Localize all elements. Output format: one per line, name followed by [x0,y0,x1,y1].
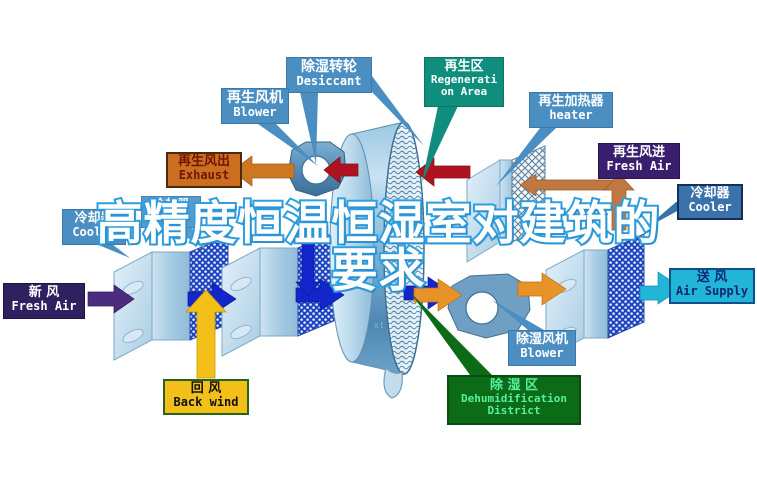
label-regeneration-area-en2: on Area [425,86,503,98]
label-dehumidification-district-cn: 除 湿 区 [449,379,579,393]
label-dehumidify-blower[interactable]: 除湿风机 Blower [508,330,576,366]
label-regeneration-area[interactable]: 再生区 Regenerati on Area [424,57,504,107]
label-exhaust[interactable]: 再生风出 Exhaust [166,152,242,188]
label-air-supply[interactable]: 送 风 Air Supply [669,268,755,304]
label-desiccant-wheel[interactable]: 除湿转轮 Desiccant [286,57,372,93]
label-air-supply-en: Air Supply [671,285,753,298]
label-fresh-air-in[interactable]: 新 风 Fresh Air [3,283,85,319]
label-regeneration-blower[interactable]: 再生风机 Blower [221,88,289,124]
label-cooler-right-en: Cooler [679,201,741,214]
label-regeneration-heater[interactable]: 再生加热器 heater [529,92,613,128]
label-regeneration-blower-en: Blower [222,106,288,119]
label-cooler-right-cn: 冷却器 [679,187,741,201]
drain-pan [384,368,402,398]
label-back-wind[interactable]: 回 风 Back wind [163,379,249,415]
label-cooler-left-front[interactable]: 冷却器 Cooler [62,209,126,245]
label-dehumidification-district-en2: District [449,405,579,417]
label-cooler-left-back[interactable]: 冷却器 Cooler [141,196,201,228]
label-dehumidification-district[interactable]: 除 湿 区 Dehumidification District [447,375,581,425]
arrow-regen-hot-b [416,158,470,186]
label-desiccant-wheel-cn: 除湿转轮 [287,60,371,75]
label-regeneration-air-in-en: Fresh Air [599,160,679,173]
label-back-wind-en: Back wind [165,396,247,409]
label-regeneration-area-cn: 再生区 [425,60,503,74]
label-dehumidify-blower-en: Blower [509,347,575,360]
label-exhaust-en: Exhaust [168,169,240,182]
label-cooler-left-back-en: Cooler [142,211,200,222]
label-fresh-air-in-en: Fresh Air [4,300,84,313]
label-air-supply-cn: 送 风 [671,271,753,285]
label-desiccant-wheel-en: Desiccant [287,75,371,88]
label-cooler-left-front-en: Cooler [63,226,125,239]
regen-heater-unit [467,146,545,262]
label-dehumidify-blower-cn: 除湿风机 [509,333,575,347]
label-regeneration-heater-en: heater [530,109,612,122]
label-exhaust-cn: 再生风出 [168,155,240,169]
label-cooler-left-back-cn: 冷却器 [142,198,200,211]
label-regeneration-air-in-cn: 再生风进 [599,146,679,160]
dehumidifier-system-diagram: 除湿转轮 Desiccant 再生风机 Blower 再生区 Regenerat… [0,0,757,488]
label-fresh-air-in-cn: 新 风 [4,286,84,300]
rotor-watermark: xt [374,320,385,330]
label-regeneration-air-in[interactable]: 再生风进 Fresh Air [598,143,680,179]
label-regeneration-heater-cn: 再生加热器 [530,95,612,109]
label-back-wind-cn: 回 风 [165,382,247,396]
label-cooler-left-front-cn: 冷却器 [63,212,125,226]
label-cooler-right[interactable]: 冷却器 Cooler [677,184,743,220]
label-regeneration-blower-cn: 再生风机 [222,91,288,106]
